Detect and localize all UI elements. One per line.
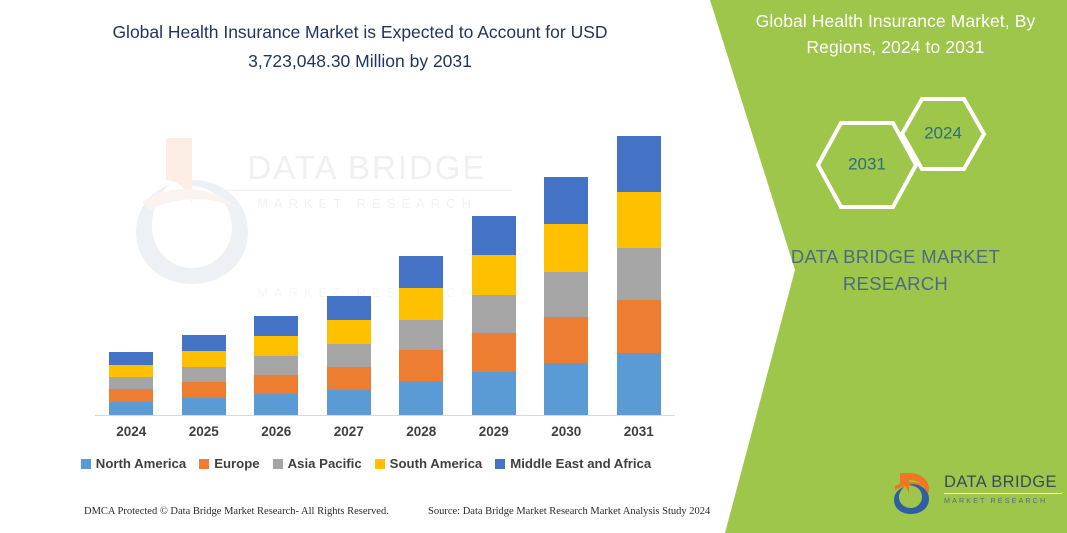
footer: DMCA Protected © Data Bridge Market Rese…	[0, 506, 712, 528]
x-axis-tick-label: 2030	[530, 424, 603, 439]
bar-stack	[254, 316, 298, 415]
chart-legend: North AmericaEuropeAsia PacificSouth Ame…	[56, 456, 676, 471]
bar-column	[313, 120, 386, 415]
bar-segment	[182, 398, 226, 415]
bar-stack	[544, 177, 588, 415]
legend-label: South America	[390, 456, 483, 471]
bar-segment	[617, 136, 661, 192]
legend-label: Asia Pacific	[288, 456, 362, 471]
legend-label: Europe	[214, 456, 259, 471]
bar-segment	[327, 390, 371, 415]
bar-segment	[109, 389, 153, 402]
bar-segment	[399, 381, 443, 415]
bar-stack	[399, 256, 443, 415]
infographic-root: Global Health Insurance Market is Expect…	[0, 0, 1067, 533]
x-axis-tick-label: 2025	[168, 424, 241, 439]
bar-segment	[399, 320, 443, 350]
bar-segment	[472, 372, 516, 415]
bar-segment	[472, 295, 516, 333]
dbmr-logo-rule	[944, 493, 1062, 494]
bar-segment	[327, 367, 371, 390]
x-axis-tick-label: 2024	[95, 424, 168, 439]
footer-copyright: DMCA Protected © Data Bridge Market Rese…	[84, 506, 389, 517]
bar-segment	[109, 365, 153, 377]
bar-segment	[182, 382, 226, 398]
bar-segment	[327, 344, 371, 367]
bar-segment	[617, 248, 661, 300]
dbmr-logo: DATA BRIDGE MARKET RESEARCH	[892, 470, 1057, 516]
bar-column	[530, 120, 603, 415]
bar-column	[240, 120, 313, 415]
legend-item[interactable]: Middle East and Africa	[495, 456, 651, 471]
legend-label: North America	[96, 456, 186, 471]
bar-column	[168, 120, 241, 415]
x-axis-labels: 20242025202620272028202920302031	[95, 424, 675, 439]
bar-stack	[182, 335, 226, 415]
bar-segment	[109, 352, 153, 365]
bar-segment	[544, 363, 588, 415]
bar-segment	[544, 272, 588, 317]
bar-stack	[109, 352, 153, 415]
x-axis-tick-label: 2031	[603, 424, 676, 439]
bar-column	[458, 120, 531, 415]
bar-segment	[182, 335, 226, 351]
legend-swatch-icon	[81, 459, 91, 469]
bar-segment	[254, 356, 298, 375]
bar-column	[95, 120, 168, 415]
bar-segment	[254, 336, 298, 356]
dbmr-logo-text: DATA BRIDGE MARKET RESEARCH	[944, 473, 1062, 506]
bar-segment	[617, 192, 661, 248]
x-axis-tick-label: 2026	[240, 424, 313, 439]
bar-segment	[254, 316, 298, 336]
bar-stack	[472, 216, 516, 415]
legend-item[interactable]: Europe	[199, 456, 259, 471]
side-panel-title: Global Health Insurance Market, By Regio…	[738, 8, 1053, 60]
bar-stack	[617, 136, 661, 415]
dbmr-logo-sub: MARKET RESEARCH	[944, 496, 1062, 506]
legend-item[interactable]: South America	[375, 456, 483, 471]
bar-segment	[472, 255, 516, 295]
bar-segment	[399, 256, 443, 288]
bar-segment	[109, 402, 153, 415]
bar-segment	[254, 375, 298, 394]
bar-segment	[327, 296, 371, 320]
legend-swatch-icon	[375, 459, 385, 469]
bar-segment	[399, 288, 443, 320]
bar-segment	[544, 317, 588, 363]
x-axis-tick-label: 2027	[313, 424, 386, 439]
dbmr-logo-mark-icon	[892, 470, 938, 516]
side-panel: Global Health Insurance Market, By Regio…	[720, 0, 1067, 533]
bar-segment	[472, 216, 516, 255]
legend-item[interactable]: North America	[81, 456, 186, 471]
x-axis-tick-label: 2029	[458, 424, 531, 439]
bar-segment	[109, 377, 153, 389]
bar-segment	[182, 351, 226, 367]
x-axis-line	[95, 415, 675, 416]
footer-source: Source: Data Bridge Market Research Mark…	[428, 506, 710, 517]
bar-series-container	[95, 120, 675, 415]
hexagon-2024: 2024	[899, 96, 987, 172]
bar-segment	[544, 224, 588, 272]
dbmr-logo-main: DATA BRIDGE	[944, 473, 1062, 492]
side-panel-brand: DATA BRIDGE MARKET RESEARCH	[738, 243, 1053, 297]
bar-segment	[182, 367, 226, 382]
legend-swatch-icon	[495, 459, 505, 469]
bar-segment	[617, 353, 661, 415]
x-axis-tick-label: 2028	[385, 424, 458, 439]
legend-swatch-icon	[273, 459, 283, 469]
bar-stack	[327, 296, 371, 415]
bar-column	[385, 120, 458, 415]
hexagon-2024-label: 2024	[899, 124, 987, 144]
bar-segment	[544, 177, 588, 224]
bar-segment	[254, 394, 298, 415]
legend-swatch-icon	[199, 459, 209, 469]
chart-panel: Global Health Insurance Market is Expect…	[0, 0, 712, 533]
stacked-bar-chart	[95, 120, 675, 416]
bar-column	[603, 120, 676, 415]
bar-segment	[472, 333, 516, 372]
bar-segment	[327, 320, 371, 344]
legend-label: Middle East and Africa	[510, 456, 651, 471]
legend-item[interactable]: Asia Pacific	[273, 456, 362, 471]
bar-segment	[399, 350, 443, 381]
page-title: Global Health Insurance Market is Expect…	[60, 18, 660, 76]
hexagon-group: 2031 2024	[815, 96, 995, 206]
bar-segment	[617, 300, 661, 353]
